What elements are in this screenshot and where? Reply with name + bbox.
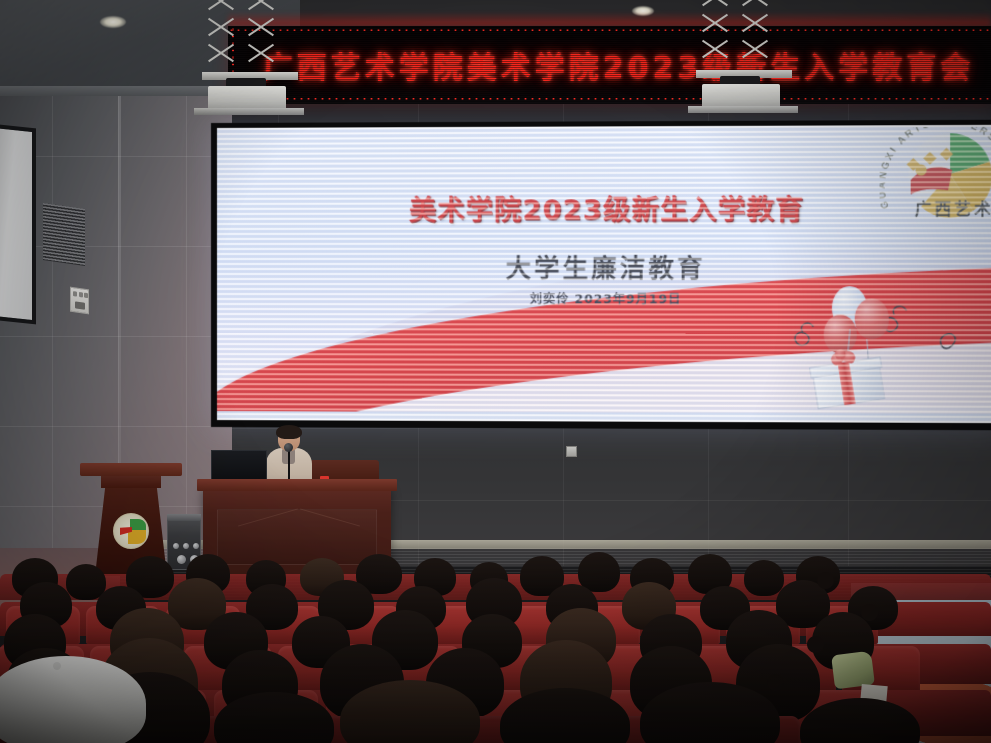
led-banner: 广西艺术学院美术学院2023级新生入学教育会 — [228, 26, 991, 104]
whiteboard — [0, 124, 36, 325]
balloon-red — [855, 298, 889, 339]
slide-title: 美术学院2023级新生入学教育 — [217, 187, 991, 228]
slide-bottom-strip — [217, 411, 991, 423]
slide-surface: GUANGXI ARTS UNIVERSITY 广西艺术 美术学院2023级新生… — [217, 125, 991, 423]
light-switch-panel[interactable] — [70, 287, 89, 315]
green-bag — [831, 651, 875, 690]
slide-decoration — [787, 284, 974, 409]
ceiling-light-icon — [100, 16, 126, 28]
led-banner-glow — [228, 12, 991, 26]
audience-head — [744, 560, 784, 596]
ceiling-projector-right — [700, 0, 820, 110]
ceiling-projector-left — [204, 0, 324, 110]
air-vent-icon — [43, 203, 85, 266]
microphone-icon — [284, 443, 293, 452]
led-banner-text: 广西艺术学院美术学院2023级新生入学教育会 — [228, 43, 991, 87]
wall-outlet — [566, 446, 577, 457]
led-border-dots — [228, 28, 991, 32]
gift-box-icon — [807, 346, 891, 412]
auditorium-photo: 广西艺术学院美术学院2023级新生入学教育会 — [0, 0, 991, 743]
slide-subtitle: 大学生廉洁教育 — [217, 249, 991, 286]
audience-seating — [0, 552, 991, 743]
projection-screen: GUANGXI ARTS UNIVERSITY 广西艺术 美术学院2023级新生… — [211, 120, 991, 431]
university-seal-icon — [113, 513, 149, 549]
led-border-dots — [228, 97, 991, 101]
